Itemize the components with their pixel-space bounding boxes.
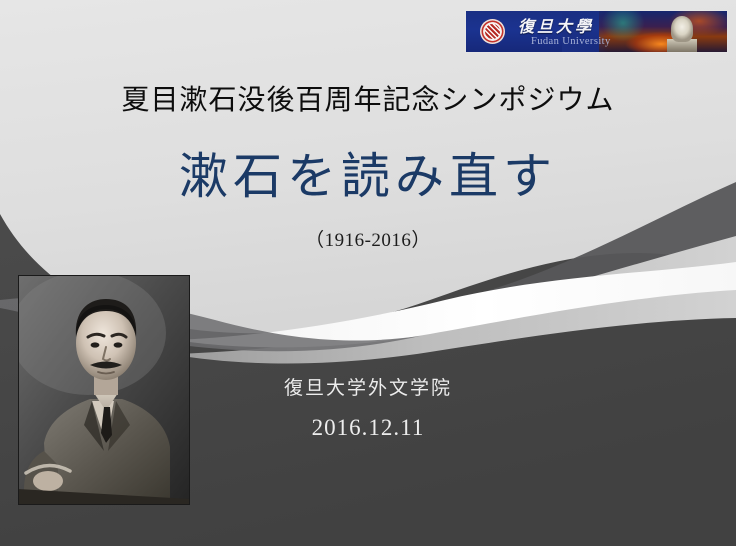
year-range-subtitle: （1916-2016） xyxy=(0,228,736,254)
symposium-title: 夏目漱石没後百周年記念シンポジウム xyxy=(0,82,736,118)
organization-name: 復旦大学外文学院 xyxy=(0,375,736,401)
fudan-logo-chinese-name: 復旦大學 xyxy=(518,18,594,36)
observatory-dome-base-icon xyxy=(667,39,697,52)
presentation-slide: 復旦大學 Fudan University 夏目漱石没後百周年記念シンポジウム … xyxy=(0,0,736,546)
main-heading: 漱石を読み直す xyxy=(0,146,736,208)
banner-landscape-image xyxy=(599,11,727,52)
fudan-logo-english-name: Fudan University xyxy=(531,36,611,48)
event-date: 2016.12.11 xyxy=(0,413,736,443)
fudan-university-banner: 復旦大學 Fudan University xyxy=(466,11,727,52)
fudan-seal-icon xyxy=(480,19,505,44)
